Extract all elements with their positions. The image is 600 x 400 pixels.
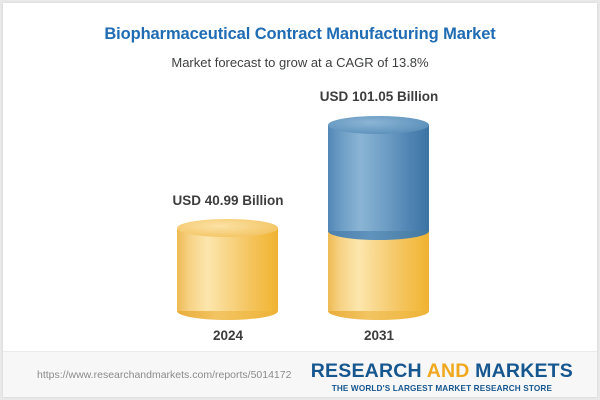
plot-area: USD 40.99 Billion 2024 USD 101.05 Billio… (3, 3, 597, 351)
report-url[interactable]: https://www.researchandmarkets.com/repor… (37, 369, 291, 381)
cylinder-top-ellipse (328, 116, 429, 134)
chart-card: Biopharmaceutical Contract Manufacturing… (3, 3, 597, 397)
bar-segment-2031-base[interactable] (328, 231, 429, 311)
cylinder-body (328, 231, 429, 311)
brand-wordmark: RESEARCH AND MARKETS (311, 360, 573, 383)
brand-word-research: RESEARCH (311, 360, 427, 382)
cylinder-top-ellipse (177, 219, 278, 237)
bar-value-label-2031: USD 101.05 Billion (269, 89, 489, 104)
cylinder-body (177, 228, 278, 311)
bar-value-label-2024: USD 40.99 Billion (118, 193, 338, 208)
bar-category-label-2031: 2031 (269, 328, 489, 343)
cylinder-body (328, 125, 429, 231)
brand-word-markets: MARKETS (470, 360, 573, 382)
research-and-markets-logo[interactable]: RESEARCH AND MARKETS THE WORLD'S LARGEST… (311, 360, 573, 393)
bar-segment-2024-base[interactable] (177, 228, 278, 311)
bar-segment-2031-growth[interactable] (328, 125, 429, 231)
brand-tagline: THE WORLD'S LARGEST MARKET RESEARCH STOR… (311, 384, 573, 393)
footer: https://www.researchandmarkets.com/repor… (3, 351, 597, 397)
brand-word-and: AND (427, 360, 470, 382)
